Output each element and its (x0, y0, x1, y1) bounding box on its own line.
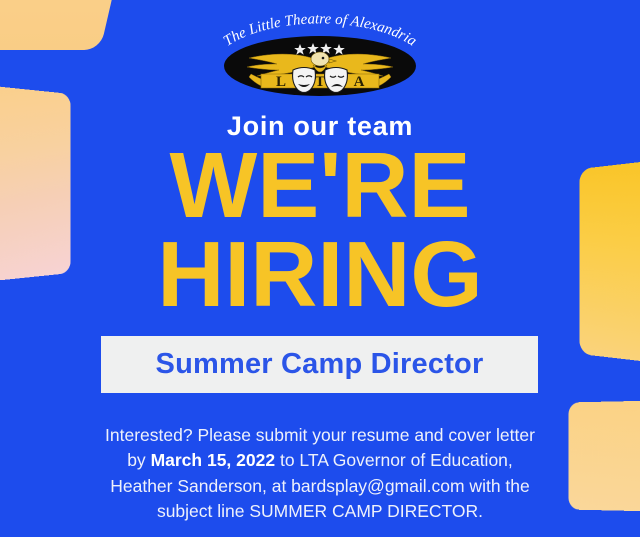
role-banner: Summer Camp Director (101, 336, 538, 393)
theatre-logo: The Little Theatre of Alexandria (0, 4, 640, 100)
headline-line-2: HIRING (0, 230, 640, 319)
logo-letter-t: T (315, 74, 325, 90)
logo-letter-l: L (276, 74, 286, 90)
role-title: Summer Camp Director (156, 348, 484, 381)
hiring-poster: The Little Theatre of Alexandria (0, 0, 640, 537)
page-title: WE'RE HIRING (0, 141, 640, 320)
headline-line-1: WE'RE (0, 141, 640, 230)
decorative-shape-bottom-right (569, 400, 640, 512)
logo-emblem-icon: The Little Theatre of Alexandria (205, 4, 435, 100)
logo-letter-a: A (354, 74, 365, 90)
application-instructions: Interested? Please submit your resume an… (96, 423, 544, 525)
application-deadline: March 15, 2022 (151, 450, 276, 470)
